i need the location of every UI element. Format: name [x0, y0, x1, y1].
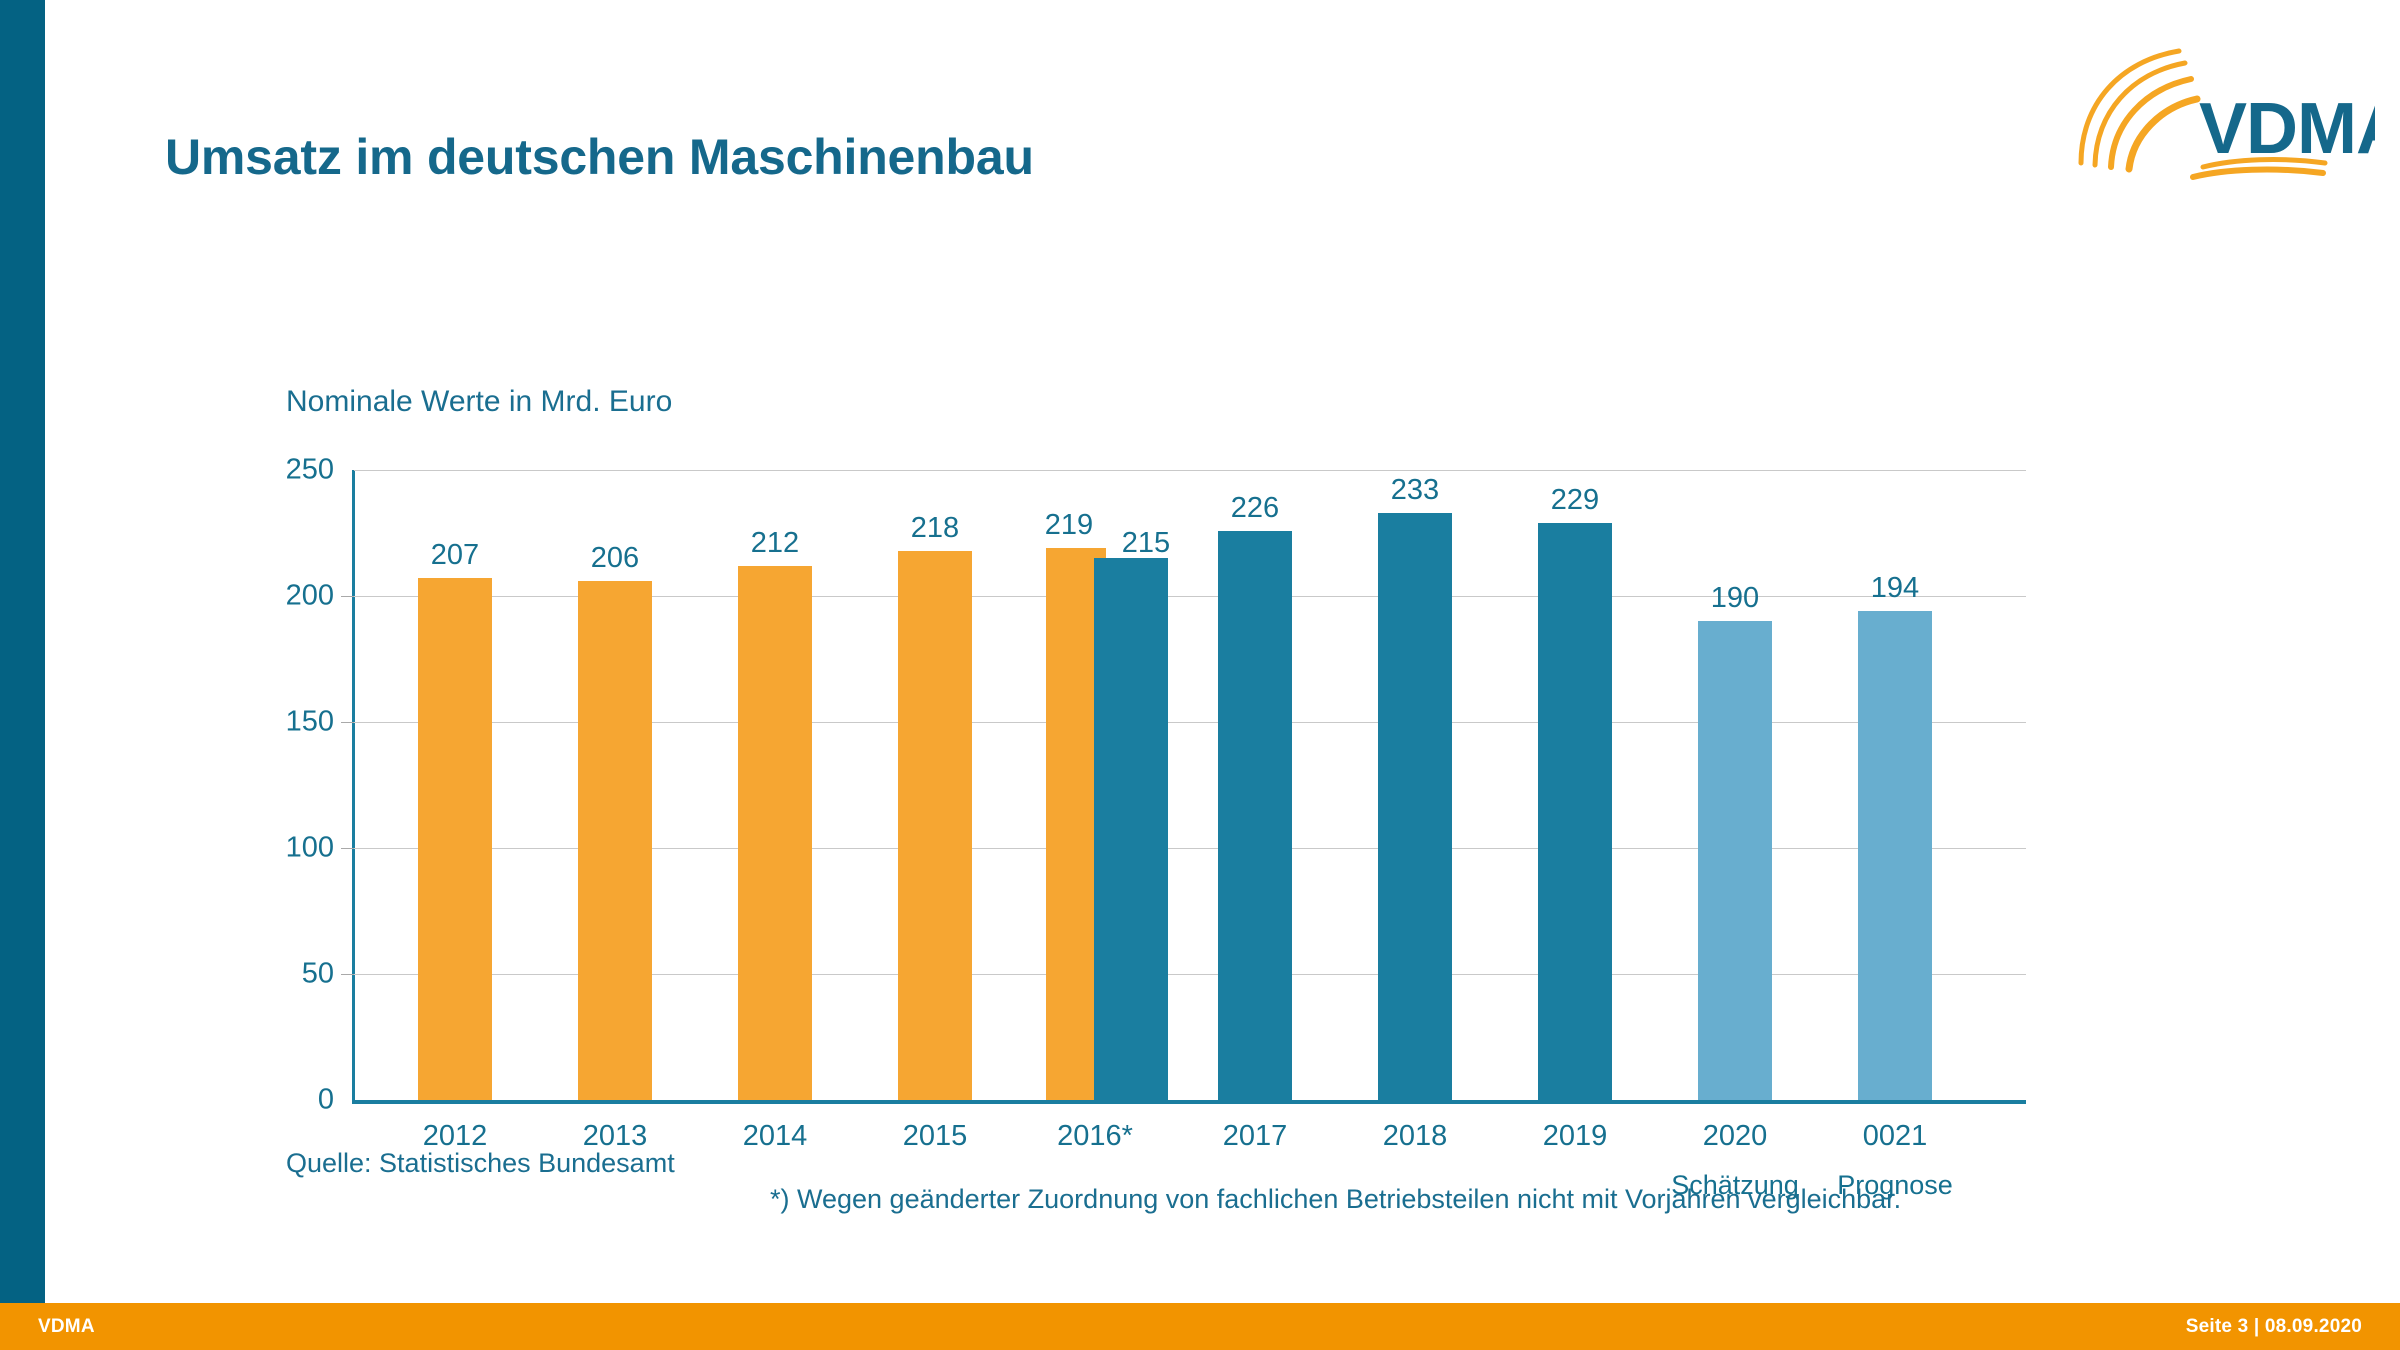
- x-tick-label-2014: 2014: [743, 1120, 808, 1153]
- bar-label-2021: 194: [1871, 572, 1919, 605]
- bar-label-2016-blue: 215: [1122, 527, 1170, 560]
- bar-2019[interactable]: [1538, 523, 1612, 1100]
- logo-wordmark: VDMA: [2199, 89, 2375, 169]
- bar-label-2019: 229: [1551, 484, 1599, 517]
- x-axis-line: [352, 1100, 2026, 1104]
- gridline-250: [354, 470, 2026, 471]
- y-tickmark-150: [341, 722, 354, 723]
- bar-label-2015: 218: [911, 512, 959, 545]
- bar-label-2014: 212: [751, 527, 799, 560]
- bar-label-2020: 190: [1711, 582, 1759, 615]
- source-note: Quelle: Statistisches Bundesamt: [286, 1148, 675, 1179]
- vdma-logo: VDMA: [2075, 45, 2375, 180]
- bar-chart: 0 50 100 150 200 250 207: [286, 470, 2026, 1115]
- bar-label-2017: 226: [1231, 492, 1279, 525]
- vdma-logo-svg: VDMA: [2075, 45, 2375, 180]
- footer-brand: VDMA: [38, 1316, 95, 1338]
- x-tick-label-2021: 0021: [1863, 1120, 1928, 1153]
- bar-2016-blue[interactable]: [1094, 558, 1168, 1100]
- bar-2014[interactable]: [738, 566, 812, 1100]
- bar-label-2018: 233: [1391, 474, 1439, 507]
- bar-label-2016-orange: 219: [1045, 509, 1093, 542]
- y-tick-label-200: 200: [214, 580, 334, 613]
- y-tick-label-250: 250: [214, 454, 334, 487]
- slide-canvas: Umsatz im deutschen Maschinenbau VDMA No…: [0, 0, 2400, 1350]
- y-tick-label-0: 0: [214, 1084, 334, 1117]
- left-accent-stripe: [0, 0, 45, 1303]
- bar-2017[interactable]: [1218, 531, 1292, 1101]
- logo-arcs-icon: [2081, 51, 2197, 169]
- x-tick-label-2015: 2015: [903, 1120, 968, 1153]
- bar-2012[interactable]: [418, 578, 492, 1100]
- x-tick-label-2020: 2020: [1703, 1120, 1768, 1153]
- y-tick-label-100: 100: [214, 832, 334, 865]
- y-tickmark-100: [341, 848, 354, 849]
- bar-label-2012: 207: [431, 539, 479, 572]
- chart-subtitle: Nominale Werte in Mrd. Euro: [286, 385, 672, 419]
- bar-2021[interactable]: [1858, 611, 1932, 1100]
- x-tick-label-2017: 2017: [1223, 1120, 1288, 1153]
- x-tick-label-2019: 2019: [1543, 1120, 1608, 1153]
- x-tick-label-2016: 2016*: [1057, 1120, 1133, 1153]
- bar-2018[interactable]: [1378, 513, 1452, 1100]
- y-tickmark-200: [341, 596, 354, 597]
- footer-page-date: Seite 3 | 08.09.2020: [2186, 1316, 2362, 1338]
- bar-2020[interactable]: [1698, 621, 1772, 1100]
- bar-label-2013: 206: [591, 542, 639, 575]
- y-tick-label-50: 50: [214, 958, 334, 991]
- footer-bar: VDMA Seite 3 | 08.09.2020: [0, 1303, 2400, 1350]
- page-title: Umsatz im deutschen Maschinenbau: [165, 128, 1034, 186]
- plot-area: 207 206 212 218 219 215 226 233 229: [354, 470, 2026, 1100]
- bar-2013[interactable]: [578, 581, 652, 1100]
- footnote: *) Wegen geänderter Zuordnung von fachli…: [770, 1184, 1901, 1215]
- y-tickmark-50: [341, 974, 354, 975]
- bar-2015[interactable]: [898, 551, 972, 1100]
- x-tick-label-2018: 2018: [1383, 1120, 1448, 1153]
- y-tick-label-150: 150: [214, 706, 334, 739]
